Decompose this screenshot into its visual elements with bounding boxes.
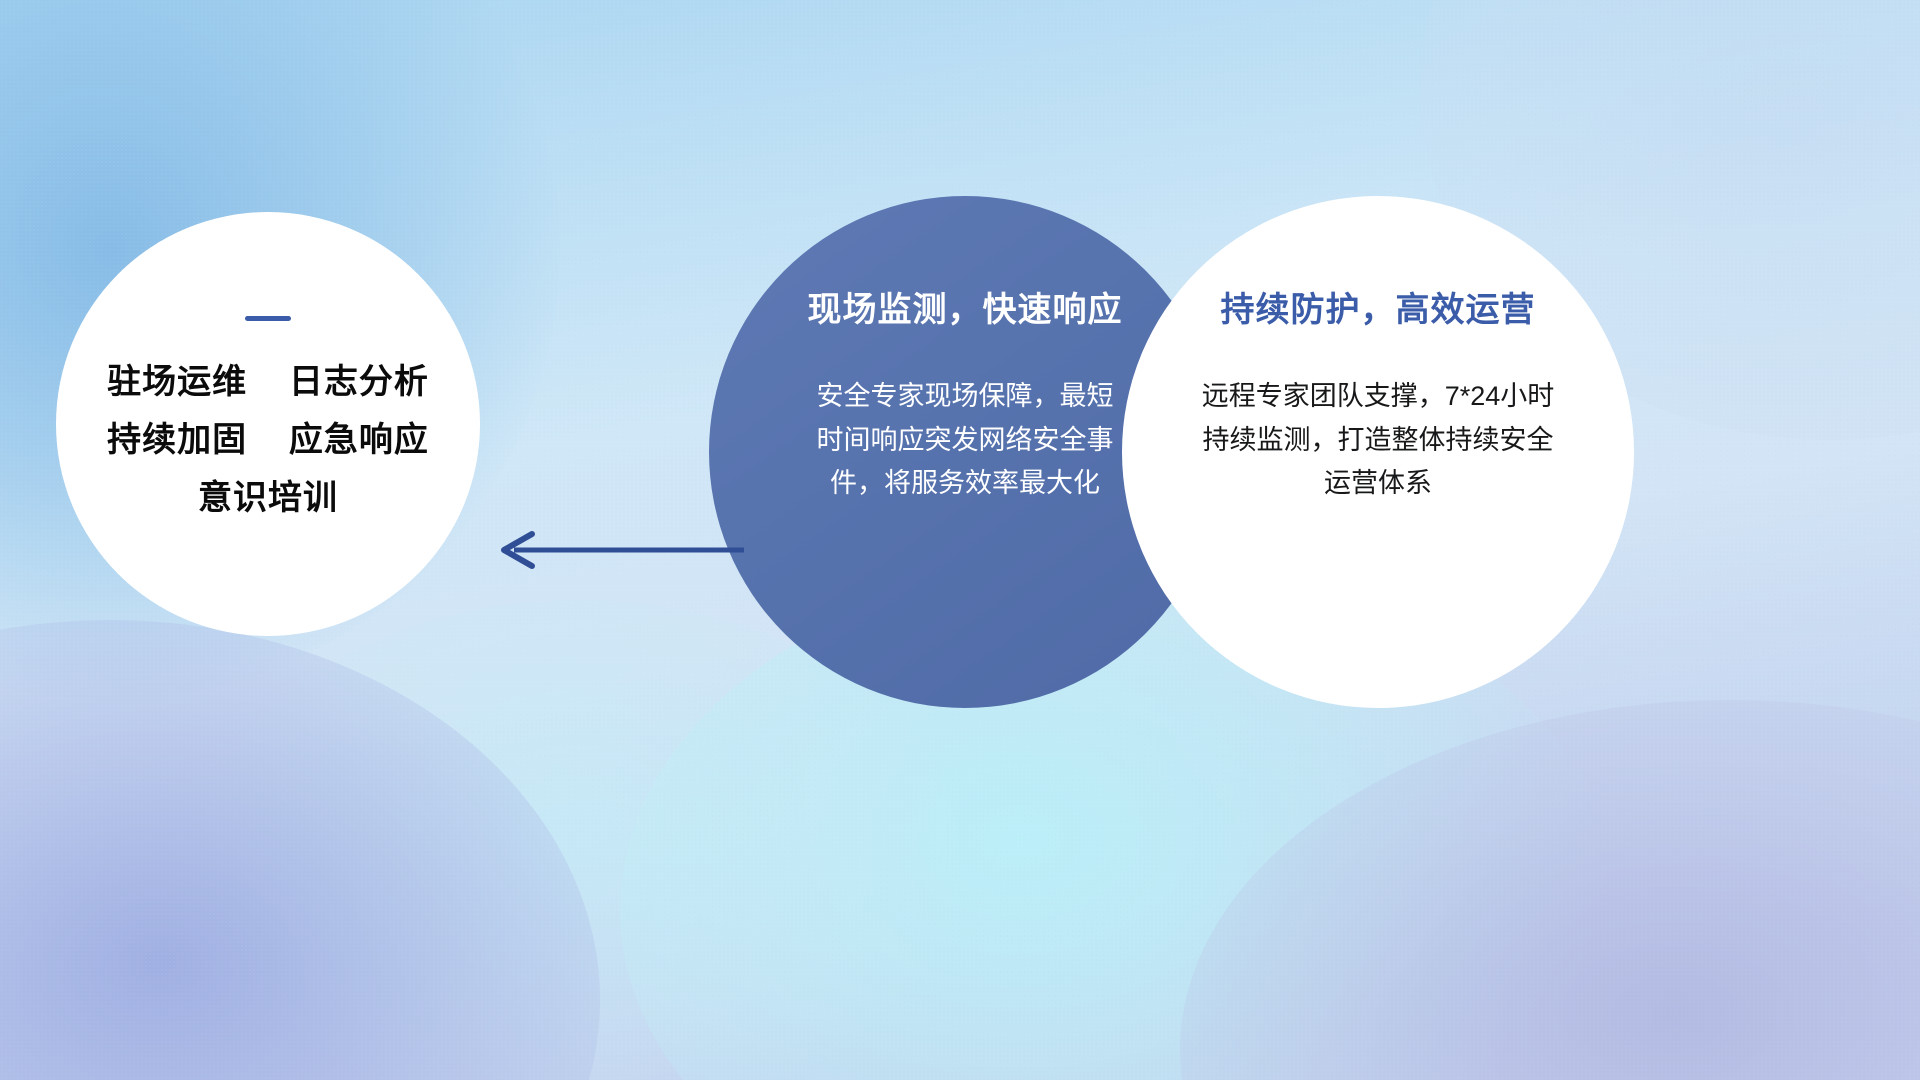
slide-canvas: 驻场运维 日志分析 持续加固 应急响应 意识培训 现场监测，快速响应 安全专家现… xyxy=(0,0,1920,1080)
card-title: 持续防护，高效运营 xyxy=(1221,282,1536,331)
keywords-circle-card: 驻场运维 日志分析 持续加固 应急响应 意识培训 xyxy=(56,212,480,636)
dash-divider-icon xyxy=(245,316,291,321)
keyword-line: 意识培训 xyxy=(198,479,338,517)
card-body: 安全专家现场保障，最短时间响应突发网络安全事件，将服务效率最大化 xyxy=(812,375,1118,506)
keyword-line: 驻场运维 日志分析 xyxy=(107,363,429,401)
keyword-line: 持续加固 应急响应 xyxy=(107,421,429,459)
arrow-left-icon xyxy=(488,522,748,578)
card-body: 远程专家团队支撑，7*24小时持续监测，打造整体持续安全运营体系 xyxy=(1190,375,1566,506)
card-title: 现场监测，快速响应 xyxy=(808,282,1123,331)
keyword-list: 驻场运维 日志分析 持续加固 应急响应 意识培训 xyxy=(107,363,429,517)
continuous-protection-circle-card: 持续防护，高效运营 远程专家团队支撑，7*24小时持续监测，打造整体持续安全运营… xyxy=(1122,196,1634,708)
